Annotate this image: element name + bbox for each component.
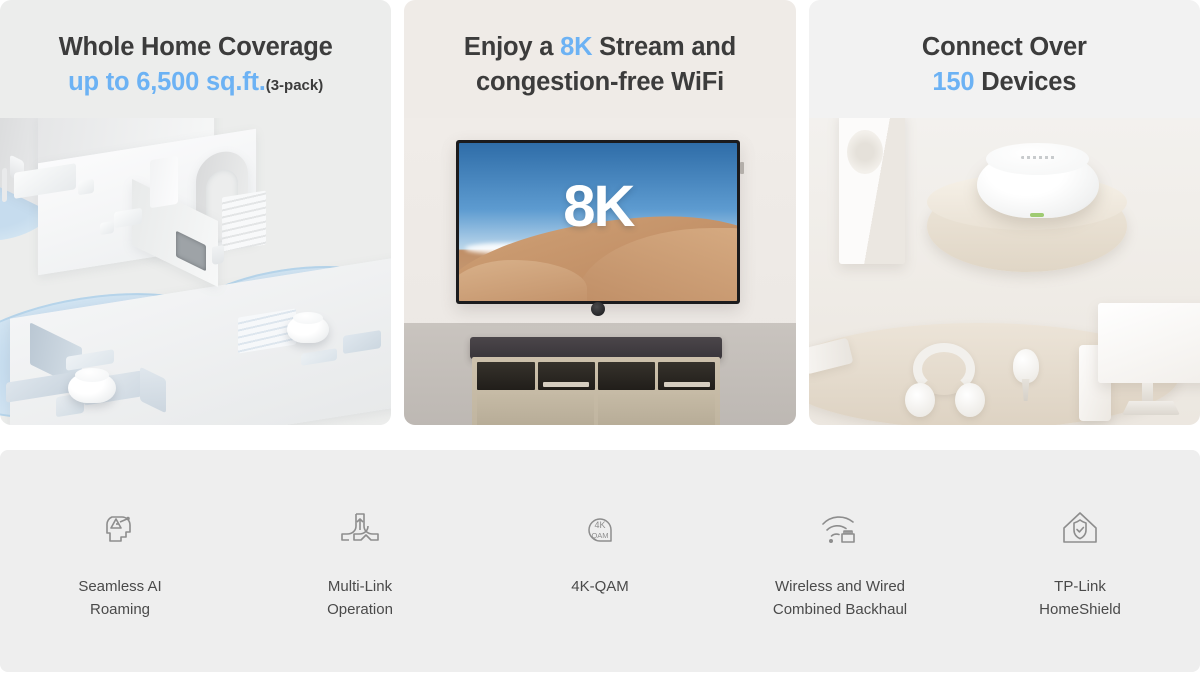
wifi-ethernet-icon bbox=[812, 502, 868, 558]
router-status-led bbox=[1030, 213, 1044, 217]
console-shelf bbox=[538, 362, 595, 390]
monitor bbox=[1098, 303, 1200, 415]
screen-8k-text: 8K bbox=[459, 178, 737, 236]
feature-label-4k-qam: 4K-QAM bbox=[571, 575, 629, 598]
feature-label-line1: Wireless and Wired bbox=[773, 575, 907, 598]
console-shelf bbox=[477, 362, 534, 390]
feature-label-tp-link-homeshield: TP-Link HomeShield bbox=[1039, 575, 1121, 622]
tv-side-mount bbox=[740, 162, 744, 174]
feature-card-row: Whole Home Coverage up to 6,500 sq.ft.(3… bbox=[0, 0, 1200, 425]
card-8k-stream[interactable]: Enjoy a 8K Stream and congestion-free Wi… bbox=[404, 0, 795, 425]
mesh-router-main bbox=[977, 152, 1099, 218]
monitor-screen bbox=[1098, 303, 1200, 383]
game-console bbox=[839, 118, 905, 264]
feature-icon-strip: Seamless AI Roaming Multi-Link Operation bbox=[0, 450, 1200, 672]
card-2-title-line1: Enjoy a 8K Stream and bbox=[404, 30, 795, 65]
card-1-title-line1: Whole Home Coverage bbox=[0, 30, 391, 65]
soundbar bbox=[470, 337, 722, 359]
console-door bbox=[598, 394, 715, 425]
card-1-title: Whole Home Coverage up to 6,500 sq.ft.(3… bbox=[0, 0, 391, 100]
feature-label-line2: HomeShield bbox=[1039, 598, 1121, 621]
card-3-title: Connect Over 150 Devices bbox=[809, 0, 1200, 100]
card-3-title-post: Devices bbox=[974, 68, 1076, 96]
router-with-smart-devices-pedestal bbox=[809, 118, 1200, 425]
card-2-title-line2: congestion-free WiFi bbox=[404, 65, 795, 100]
feature-label-line1: 4K-QAM bbox=[571, 575, 629, 598]
card-2-accent-text: 8K bbox=[560, 33, 592, 61]
card-1-pack-note: (3-pack) bbox=[266, 77, 324, 94]
mesh-router-node-rear bbox=[287, 316, 329, 343]
feature-tp-link-homeshield[interactable]: TP-Link HomeShield bbox=[960, 502, 1200, 622]
feature-label-line2: Roaming bbox=[78, 598, 161, 621]
feature-label-multi-link-operation: Multi-Link Operation bbox=[327, 575, 393, 622]
desk-chair bbox=[100, 221, 114, 235]
console-shelf bbox=[598, 362, 655, 390]
card-3-title-line1: Connect Over bbox=[809, 30, 1200, 65]
tv-camera-nub bbox=[591, 302, 605, 316]
feature-label-seamless-ai-roaming: Seamless AI Roaming bbox=[78, 575, 161, 622]
nightstand bbox=[78, 179, 94, 196]
headphones bbox=[905, 343, 985, 417]
console-cabinet-row bbox=[477, 394, 715, 425]
feature-label-line1: TP-Link bbox=[1039, 575, 1121, 598]
tv-screen: 8K bbox=[459, 143, 737, 301]
feature-multi-link-operation[interactable]: Multi-Link Operation bbox=[240, 502, 480, 622]
wall-mounted-tv-desert-scene: 8K bbox=[404, 118, 795, 425]
feature-seamless-ai-roaming[interactable]: Seamless AI Roaming bbox=[0, 502, 240, 622]
console-shelf-row bbox=[477, 362, 715, 390]
feature-highlights-page: Whole Home Coverage up to 6,500 sq.ft.(3… bbox=[0, 0, 1200, 688]
multi-link-arrow-icon bbox=[332, 502, 388, 558]
headphone-earcup-right bbox=[955, 383, 985, 417]
badge-bottom-text: QAM bbox=[591, 531, 608, 540]
card-2-title-post: Stream and bbox=[592, 33, 736, 61]
potted-plant bbox=[212, 245, 224, 265]
monitor-stand-neck bbox=[1142, 383, 1153, 403]
feature-label-line1: Seamless AI bbox=[78, 575, 161, 598]
card-1-title-line2: up to 6,500 sq.ft.(3-pack) bbox=[0, 65, 391, 100]
isometric-house-coverage-illustration bbox=[0, 118, 391, 425]
feature-4k-qam[interactable]: 4K QAM 4K-QAM bbox=[480, 502, 720, 598]
floor-lamp bbox=[2, 168, 7, 203]
card-3-title-line2: 150 Devices bbox=[809, 65, 1200, 100]
television: 8K bbox=[456, 140, 740, 304]
badge-top-text: 4K bbox=[594, 520, 605, 530]
card-2-title-pre: Enjoy a bbox=[464, 33, 560, 61]
media-console bbox=[472, 357, 720, 425]
card-1-accent-text: up to 6,500 sq.ft. bbox=[68, 68, 266, 96]
mesh-router-node-front bbox=[68, 373, 116, 403]
card-3-accent-text: 150 bbox=[932, 68, 974, 96]
card-2-title: Enjoy a 8K Stream and congestion-free Wi… bbox=[404, 0, 795, 100]
router-brand-marking bbox=[1021, 156, 1055, 159]
wardrobe bbox=[150, 156, 178, 208]
headphone-earcup-left bbox=[905, 383, 935, 417]
console-door bbox=[477, 394, 594, 425]
house-shield-check-icon bbox=[1052, 502, 1108, 558]
console-vent bbox=[847, 130, 883, 174]
smart-light-bulb bbox=[1013, 349, 1039, 401]
card-whole-home-coverage[interactable]: Whole Home Coverage up to 6,500 sq.ft.(3… bbox=[0, 0, 391, 425]
feature-label-line2: Operation bbox=[327, 598, 393, 621]
ai-head-icon bbox=[92, 502, 148, 558]
feature-label-line1: Multi-Link bbox=[327, 575, 393, 598]
console-shelf bbox=[658, 362, 715, 390]
monitor-stand-base bbox=[1122, 401, 1180, 415]
feature-combined-backhaul[interactable]: Wireless and Wired Combined Backhaul bbox=[720, 502, 960, 622]
feature-label-combined-backhaul: Wireless and Wired Combined Backhaul bbox=[773, 575, 907, 622]
card-connect-over-150-devices[interactable]: Connect Over 150 Devices bbox=[809, 0, 1200, 425]
feature-label-line2: Combined Backhaul bbox=[773, 598, 907, 621]
upper-staircase bbox=[222, 191, 266, 252]
4k-qam-badge-icon: 4K QAM bbox=[572, 502, 628, 558]
